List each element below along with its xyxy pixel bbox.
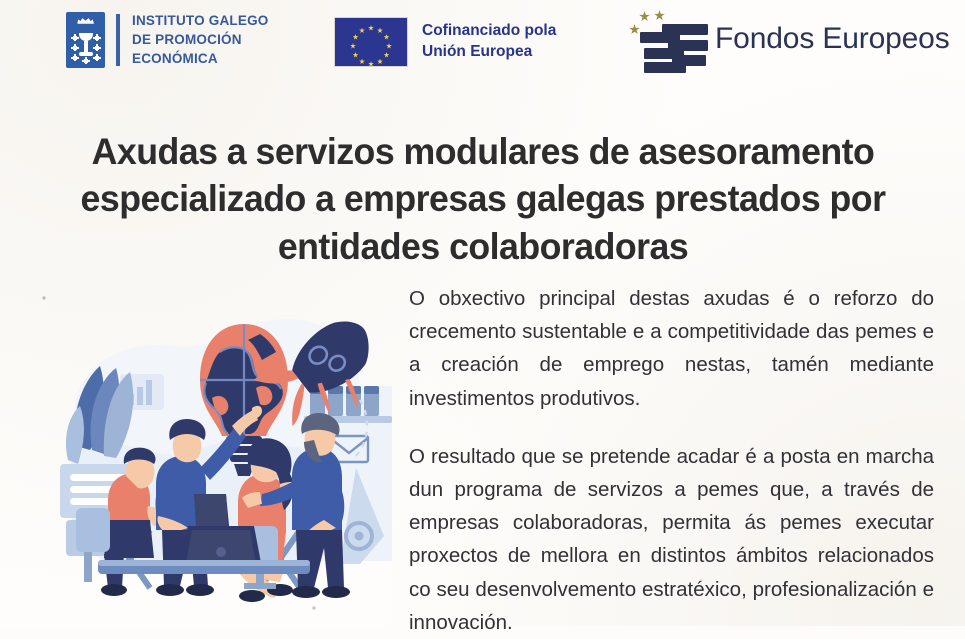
eu-logo-text: Cofinanciado pola Unión Europea	[422, 21, 556, 63]
cross-icon	[84, 59, 88, 63]
gold-star-icon	[629, 24, 640, 35]
logo-european-union: Cofinanciado pola Unión Europea	[334, 17, 556, 67]
gold-star-icon	[639, 11, 650, 22]
paragraph-2: O resultado que se pretende acadar é a p…	[409, 440, 934, 639]
crown-shape	[77, 17, 94, 24]
fondos-europeos-steps-icon	[618, 8, 708, 74]
cross-icon	[95, 46, 99, 50]
flyer-page: INSTITUTO GALEGO DE PROMOCIÓN ECONÓMICA	[0, 0, 965, 626]
scan-speck	[312, 606, 315, 609]
logo-fondos-europeos: Fondos Europeos	[618, 8, 950, 74]
cross-icon	[73, 46, 77, 50]
eu-flag-icon	[334, 17, 408, 67]
eu-line-2: Unión Europea	[422, 42, 556, 63]
chalice-shape	[78, 33, 94, 59]
cross-icon	[73, 56, 77, 60]
igape-logo-text: INSTITUTO GALEGO DE PROMOCIÓN ECONÓMICA	[132, 11, 269, 68]
logo-row: INSTITUTO GALEGO DE PROMOCIÓN ECONÓMICA	[0, 0, 965, 88]
page-title: Axudas a servizos modulares de asesorame…	[54, 128, 913, 270]
fondos-europeos-label: Fondos Europeos	[715, 24, 950, 58]
gold-star-icon	[654, 10, 665, 21]
cross-icon	[95, 56, 99, 60]
body-section: O obxectivo principal destas axudas é o …	[0, 268, 965, 626]
cross-icon	[95, 36, 99, 40]
body-copy: O obxectivo principal destas axudas é o …	[409, 282, 934, 639]
team-brainstorming-illustration	[4, 268, 404, 620]
table-top	[98, 560, 310, 574]
scan-speck	[42, 296, 45, 299]
eu-line-1: Cofinanciado pola	[422, 21, 556, 42]
igape-line-2: DE PROMOCIÓN	[132, 30, 269, 49]
xunta-galicia-coat-of-arms-icon	[66, 12, 105, 68]
paragraph-1: O obxectivo principal destas axudas é o …	[409, 282, 934, 415]
igape-line-3: ECONÓMICA	[132, 49, 269, 68]
logo-divider	[116, 14, 120, 66]
cross-icon	[73, 36, 77, 40]
igape-line-1: INSTITUTO GALEGO	[132, 11, 269, 30]
logo-igape: INSTITUTO GALEGO DE PROMOCIÓN ECONÓMICA	[66, 11, 269, 68]
